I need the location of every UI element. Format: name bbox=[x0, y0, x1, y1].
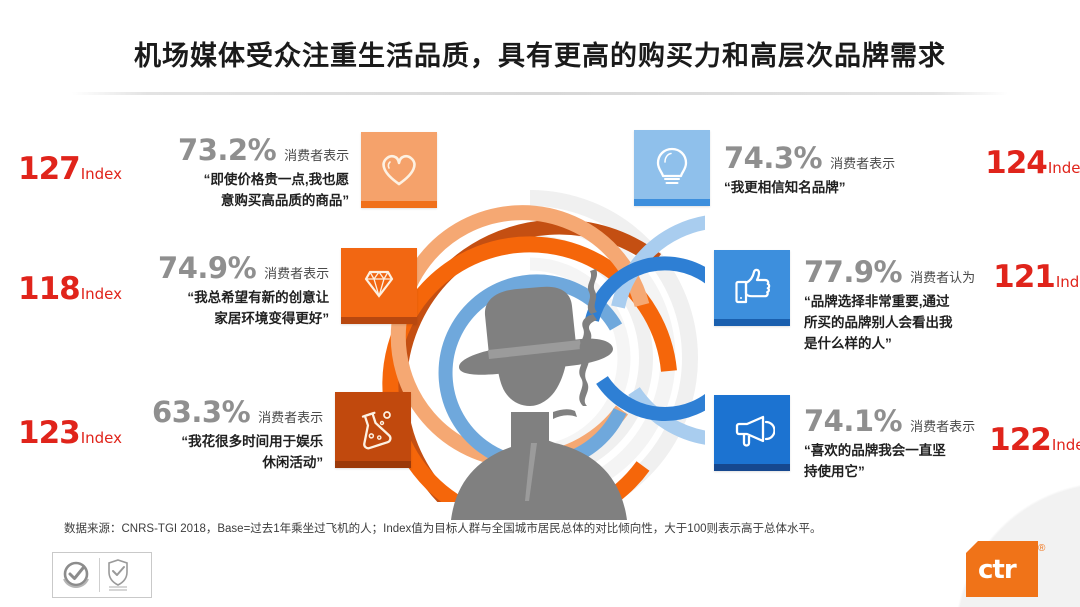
index-badge: 118 Index bbox=[18, 274, 122, 305]
tile-bottom-bar bbox=[335, 461, 411, 468]
brand-logo: ctr ® bbox=[966, 537, 1062, 599]
index-label: Index bbox=[81, 287, 122, 302]
quote-text: “我总希望有新的创意让 家居环境变得更好” bbox=[187, 288, 329, 330]
tile-bottom-bar bbox=[714, 464, 790, 471]
icon-tile-megaphone[interactable] bbox=[714, 395, 790, 471]
stat-left-1[interactable]: 127 Index 73.2% 消费者表示 “即使价格贵一点,我也愿 意购买高品… bbox=[18, 136, 437, 212]
percent-value: 74.9% bbox=[158, 254, 256, 283]
quote-line: “品牌选择非常重要,通过 bbox=[804, 292, 953, 313]
quote-line: “即使价格贵一点,我也愿 bbox=[204, 170, 350, 191]
quote-line: 是什么样的人” bbox=[804, 334, 953, 355]
index-label: Index bbox=[1052, 438, 1080, 453]
heart-icon bbox=[377, 146, 421, 190]
title-divider bbox=[72, 92, 1008, 95]
stat-left-3[interactable]: 123 Index 63.3% 消费者表示 “我花很多时间用于娱乐 休闲活动” bbox=[18, 398, 411, 474]
quote-line: 持使用它” bbox=[804, 462, 946, 483]
quote-line: 所买的品牌别人会看出我 bbox=[804, 313, 953, 334]
tile-bottom-bar bbox=[714, 319, 790, 326]
percent-row: 74.9% 消费者表示 bbox=[158, 254, 329, 283]
brand-logo-text: ctr bbox=[978, 557, 1016, 583]
stat-right-2[interactable]: 77.9% 消费者认为 “品牌选择非常重要,通过 所买的品牌别人会看出我 是什么… bbox=[714, 250, 1080, 355]
cert-divider bbox=[99, 558, 100, 592]
says-label: 消费者表示 bbox=[284, 149, 349, 162]
megaphone-icon bbox=[729, 410, 775, 452]
index-badge: 123 Index bbox=[18, 418, 122, 449]
icon-tile-diamond[interactable] bbox=[341, 248, 417, 324]
index-badge: 122 Index bbox=[989, 425, 1080, 456]
index-label: Index bbox=[1056, 275, 1080, 290]
index-value: 122 bbox=[989, 425, 1051, 456]
stat-text: 77.9% 消费者认为 “品牌选择非常重要,通过 所买的品牌别人会看出我 是什么… bbox=[804, 258, 975, 355]
diamond-icon bbox=[357, 264, 401, 304]
quote-line: 意购买高品质的商品” bbox=[204, 191, 350, 212]
index-value: 118 bbox=[18, 274, 80, 305]
tile-bottom-bar bbox=[634, 199, 710, 206]
quote-text: “我更相信知名品牌” bbox=[724, 178, 846, 199]
stat-text: 73.2% 消费者表示 “即使价格贵一点,我也愿 意购买高品质的商品” bbox=[178, 136, 349, 212]
index-badge: 121 Index bbox=[993, 262, 1080, 293]
quote-text: “我花很多时间用于娱乐 休闲活动” bbox=[181, 432, 323, 474]
quote-text: “品牌选择非常重要,通过 所买的品牌别人会看出我 是什么样的人” bbox=[804, 292, 953, 355]
percent-row: 77.9% 消费者认为 bbox=[804, 258, 975, 287]
index-label: Index bbox=[81, 167, 122, 182]
quote-line: 休闲活动” bbox=[181, 453, 323, 474]
index-value: 121 bbox=[993, 262, 1055, 293]
quote-line: “喜欢的品牌我会一直坚 bbox=[804, 441, 946, 462]
percent-row: 74.1% 消费者表示 bbox=[804, 407, 975, 436]
index-badge: 124 Index bbox=[985, 148, 1080, 179]
percent-row: 74.3% 消费者表示 bbox=[724, 144, 895, 173]
tile-bottom-bar bbox=[361, 201, 437, 208]
percent-value: 74.1% bbox=[804, 407, 902, 436]
quote-line: “我花很多时间用于娱乐 bbox=[181, 432, 323, 453]
quote-line: “我更相信知名品牌” bbox=[724, 178, 846, 199]
index-label: Index bbox=[81, 431, 122, 446]
says-label: 消费者表示 bbox=[258, 411, 323, 424]
iso-certification-icon bbox=[58, 557, 94, 593]
quote-text: “喜欢的品牌我会一直坚 持使用它” bbox=[804, 441, 946, 483]
slide-root: 机场媒体受众注重生活品质，具有更高的购买力和高层次品牌需求 bbox=[0, 0, 1080, 607]
icon-tile-lightbulb[interactable] bbox=[634, 130, 710, 206]
says-label: 消费者表示 bbox=[830, 157, 895, 170]
percent-value: 73.2% bbox=[178, 136, 276, 165]
says-label: 消费者表示 bbox=[264, 267, 329, 280]
index-value: 124 bbox=[985, 148, 1047, 179]
flask-icon bbox=[350, 406, 396, 450]
index-label: Index bbox=[1048, 161, 1080, 176]
percent-row: 73.2% 消费者表示 bbox=[178, 136, 349, 165]
percent-value: 74.3% bbox=[724, 144, 822, 173]
stat-right-1[interactable]: 74.3% 消费者表示 “我更相信知名品牌” 124 Index bbox=[634, 130, 1080, 206]
stat-text: 74.1% 消费者表示 “喜欢的品牌我会一直坚 持使用它” bbox=[804, 407, 975, 483]
stat-right-3[interactable]: 74.1% 消费者表示 “喜欢的品牌我会一直坚 持使用它” 122 Index bbox=[714, 395, 1080, 483]
icon-tile-thumbs-up[interactable] bbox=[714, 250, 790, 326]
lightbulb-icon bbox=[651, 143, 693, 189]
footnote-source: 数据来源：CNRS-TGI 2018，Base=过去1年乘坐过飞机的人；Inde… bbox=[64, 521, 1024, 537]
stat-text: 63.3% 消费者表示 “我花很多时间用于娱乐 休闲活动” bbox=[152, 398, 323, 474]
quote-line: 家居环境变得更好” bbox=[187, 309, 329, 330]
says-label: 消费者表示 bbox=[910, 420, 975, 433]
quality-mark-icon bbox=[105, 557, 131, 593]
stat-text: 74.9% 消费者表示 “我总希望有新的创意让 家居环境变得更好” bbox=[158, 254, 329, 330]
index-badge: 127 Index bbox=[18, 154, 122, 185]
certification-marks bbox=[52, 552, 152, 598]
percent-value: 63.3% bbox=[152, 398, 250, 427]
thumbs-up-icon bbox=[730, 265, 774, 307]
page-title-wrap: 机场媒体受众注重生活品质，具有更高的购买力和高层次品牌需求 bbox=[0, 34, 1080, 73]
stat-left-2[interactable]: 118 Index 74.9% 消费者表示 “我总希望有新的创意让 家居环境变得… bbox=[18, 254, 417, 330]
stat-text: 74.3% 消费者表示 “我更相信知名品牌” bbox=[724, 144, 895, 199]
page-title: 机场媒体受众注重生活品质，具有更高的购买力和高层次品牌需求 bbox=[0, 34, 1080, 73]
index-value: 127 bbox=[18, 154, 80, 185]
tile-bottom-bar bbox=[341, 317, 417, 324]
says-label: 消费者认为 bbox=[910, 271, 975, 284]
index-value: 123 bbox=[18, 418, 80, 449]
icon-tile-heart[interactable] bbox=[361, 132, 437, 208]
icon-tile-flask[interactable] bbox=[335, 392, 411, 468]
percent-row: 63.3% 消费者表示 bbox=[152, 398, 323, 427]
quote-line: “我总希望有新的创意让 bbox=[187, 288, 329, 309]
quote-text: “即使价格贵一点,我也愿 意购买高品质的商品” bbox=[204, 170, 350, 212]
registered-trademark-icon: ® bbox=[1038, 543, 1045, 554]
percent-value: 77.9% bbox=[804, 258, 902, 287]
